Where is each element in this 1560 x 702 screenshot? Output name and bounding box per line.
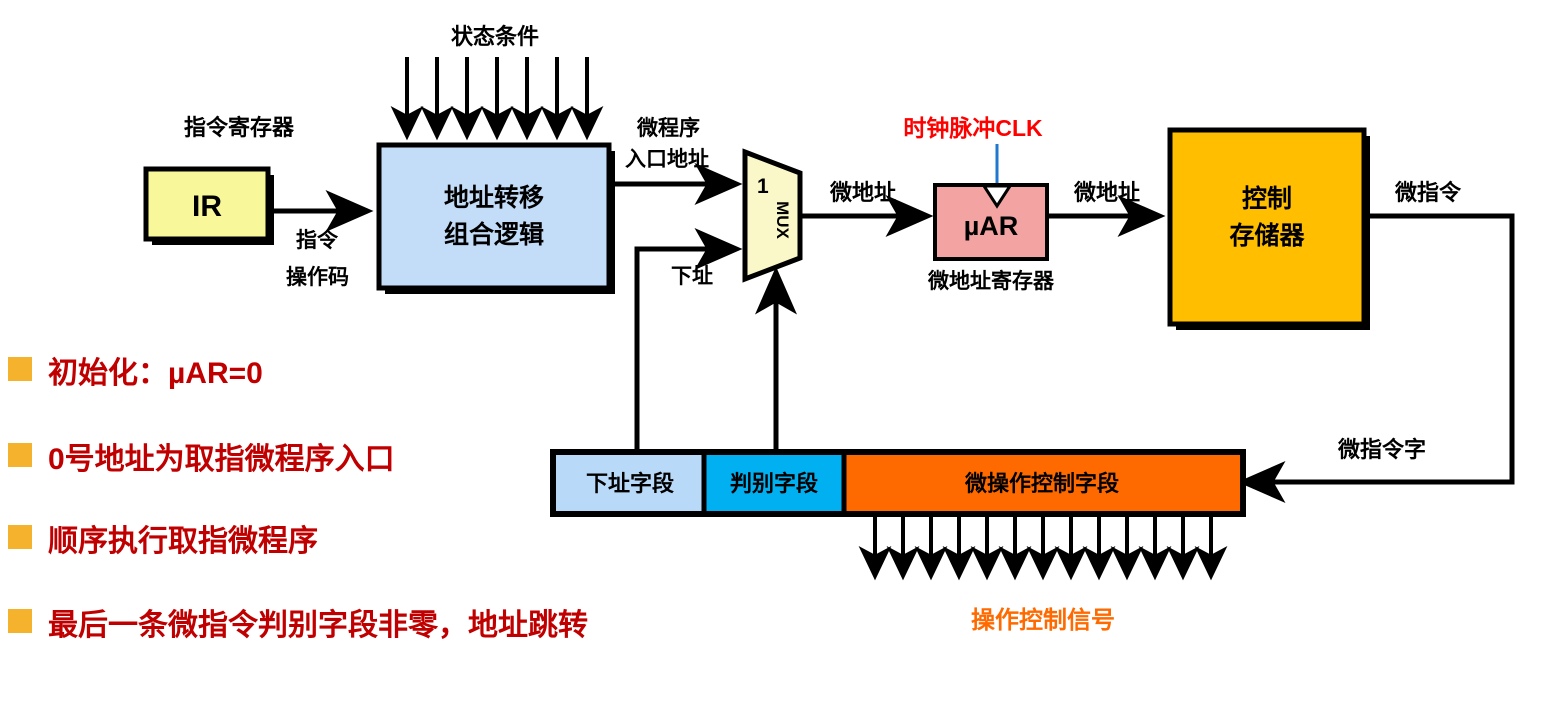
next-address-flow: 下址	[637, 249, 737, 455]
field-next-address-label: 下址字段	[586, 471, 674, 496]
bullet-item-1: 初始化：µAR=0	[8, 357, 263, 390]
bullet-item-1-label: 初始化：µAR=0	[48, 357, 263, 390]
diagram-canvas: 状态条件 指令寄存器 IR 指令 操作码 地址转移 组合逻辑 微程序 入口地址	[0, 0, 1560, 702]
bullet-marker-icon	[8, 357, 32, 381]
bullet-item-3: 顺序执行取指微程序	[8, 524, 318, 558]
address-transfer-logic-label-line1: 地址转移	[444, 183, 544, 212]
uar-group: 时钟脉冲CLK µAR 微地址寄存器	[903, 115, 1055, 293]
operation-control-signal-arrows: 操作控制信号	[875, 516, 1211, 634]
mux-input-number: 1	[757, 175, 769, 198]
microinstruction-word-label: 微指令字	[1337, 437, 1426, 462]
micro-address-flow-2: 微地址	[1047, 180, 1160, 216]
uar-caption: 微地址寄存器	[927, 269, 1055, 293]
instruction-opcode-label-line2: 操作码	[286, 265, 349, 289]
operation-control-signal-label: 操作控制信号	[971, 606, 1115, 634]
uar-label: µAR	[964, 211, 1019, 241]
ir-label: IR	[192, 190, 222, 223]
status-condition-arrows	[407, 57, 587, 136]
micro-entry-address-label-line1: 微程序	[636, 116, 700, 140]
mux-group: 1 MUX	[745, 152, 800, 279]
address-transfer-logic-label-line2: 组合逻辑	[444, 220, 544, 249]
control-store-group: 控制 存储器	[1170, 130, 1370, 330]
address-transfer-logic-group: 地址转移 组合逻辑	[379, 145, 615, 294]
mux-label: MUX	[773, 201, 792, 239]
bullet-item-2: 0号地址为取指微程序入口	[8, 442, 395, 476]
instruction-opcode-flow: 指令 操作码	[270, 211, 368, 289]
address-transfer-logic-block	[379, 145, 609, 288]
micro-address-flow-1: 微地址	[800, 180, 928, 216]
status-condition-label: 状态条件	[451, 24, 539, 49]
field-discriminant-label: 判别字段	[730, 471, 818, 496]
bullet-item-4-label: 最后一条微指令判别字段非零，地址跳转	[48, 608, 588, 642]
instruction-opcode-label-line1: 指令	[296, 228, 339, 252]
micro-entry-address-label-line2: 入口地址	[625, 147, 709, 171]
ir-caption: 指令寄存器	[184, 115, 295, 140]
bullet-marker-icon	[8, 443, 32, 467]
control-store-label-line2: 存储器	[1229, 221, 1305, 250]
next-address-label: 下址	[671, 265, 713, 288]
ir-block-group: 指令寄存器 IR	[146, 115, 295, 245]
clock-pulse-label: 时钟脉冲CLK	[903, 115, 1043, 141]
bullet-item-2-label: 0号地址为取指微程序入口	[48, 442, 395, 476]
field-micro-operation-control-label: 微操作控制字段	[964, 471, 1119, 496]
bullet-marker-icon	[8, 609, 32, 633]
bullet-marker-icon	[8, 525, 32, 549]
bullet-list: 初始化：µAR=0 0号地址为取指微程序入口 顺序执行取指微程序 最后一条微指令…	[8, 357, 588, 642]
micro-address-label-2: 微地址	[1073, 180, 1140, 205]
microinstruction-label: 微指令	[1394, 180, 1462, 205]
bullet-item-3-label: 顺序执行取指微程序	[48, 524, 318, 558]
control-store-label-line1: 控制	[1242, 185, 1292, 213]
micro-entry-address-flow: 微程序 入口地址	[609, 116, 737, 184]
microinstruction-word-bar: 下址字段 判别字段 微操作控制字段	[553, 452, 1243, 514]
status-condition-group: 状态条件	[407, 24, 587, 136]
micro-address-label-1: 微地址	[829, 180, 896, 205]
bullet-item-4: 最后一条微指令判别字段非零，地址跳转	[8, 608, 588, 642]
